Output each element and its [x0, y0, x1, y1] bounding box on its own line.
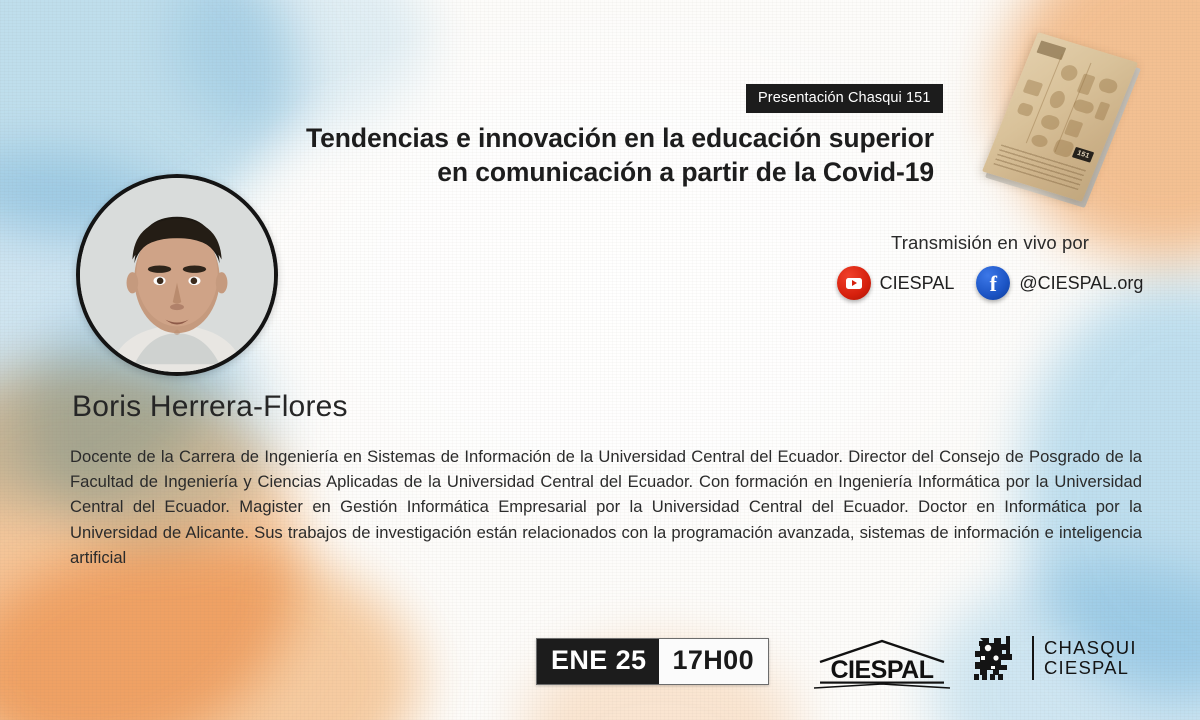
logo-divider [1032, 636, 1034, 680]
facebook-handle: @CIESPAL.org [1019, 273, 1143, 294]
svg-text:CIESPAL: CIESPAL [831, 656, 934, 684]
youtube-handle: CIESPAL [880, 273, 955, 294]
book-front-cover: 151 [982, 32, 1138, 202]
chasqui-line-2: CIESPAL [1044, 658, 1137, 678]
chasqui-wordmark: CHASQUI CIESPAL [1044, 638, 1137, 679]
ciespal-logo: CIESPAL [812, 638, 952, 690]
youtube-icon[interactable] [837, 266, 871, 300]
youtube-channel[interactable]: CIESPAL [837, 266, 955, 300]
live-stream-label: Transmisión en vivo por [820, 232, 1160, 254]
title-line-1: Tendencias e innovación en la educación … [300, 122, 934, 156]
facebook-icon[interactable]: f [976, 266, 1010, 300]
magazine-cover-image: 151 [1000, 36, 1176, 204]
book-publisher-mark [1036, 40, 1066, 60]
speaker-avatar [76, 174, 278, 376]
page-title: Tendencias e innovación en la educación … [300, 122, 934, 189]
poster-canvas: Presentación Chasqui 151 Tendencias e in… [0, 0, 1200, 720]
facebook-channel[interactable]: f @CIESPAL.org [976, 266, 1143, 300]
presentation-badge: Presentación Chasqui 151 [746, 84, 943, 113]
speaker-bio: Docente de la Carrera de Ingeniería en S… [70, 444, 1142, 570]
issue-number: 151 [1072, 147, 1094, 163]
facebook-f-glyph: f [990, 273, 997, 295]
speaker-name: Boris Herrera-Flores [72, 390, 348, 424]
magazine-book: 151 [982, 32, 1138, 202]
event-datetime-badge: ENE 25 17H00 [536, 638, 769, 685]
chasqui-glyph-icon [966, 632, 1022, 684]
event-time: 17H00 [659, 639, 768, 684]
chasqui-line-1: CHASQUI [1044, 638, 1137, 658]
ciespal-logo-mark: CIESPAL [812, 638, 952, 690]
event-date: ENE 25 [537, 639, 659, 684]
play-glyph [846, 278, 862, 289]
chasqui-ciespal-logo: CHASQUI CIESPAL [966, 632, 1137, 684]
portrait-illustration [80, 178, 274, 372]
live-stream-channels: CIESPAL f @CIESPAL.org [820, 266, 1160, 300]
live-stream-section: Transmisión en vivo por CIESPAL f @CIESP… [820, 232, 1160, 300]
title-line-2: en comunicación a partir de la Covid-19 [300, 156, 934, 190]
